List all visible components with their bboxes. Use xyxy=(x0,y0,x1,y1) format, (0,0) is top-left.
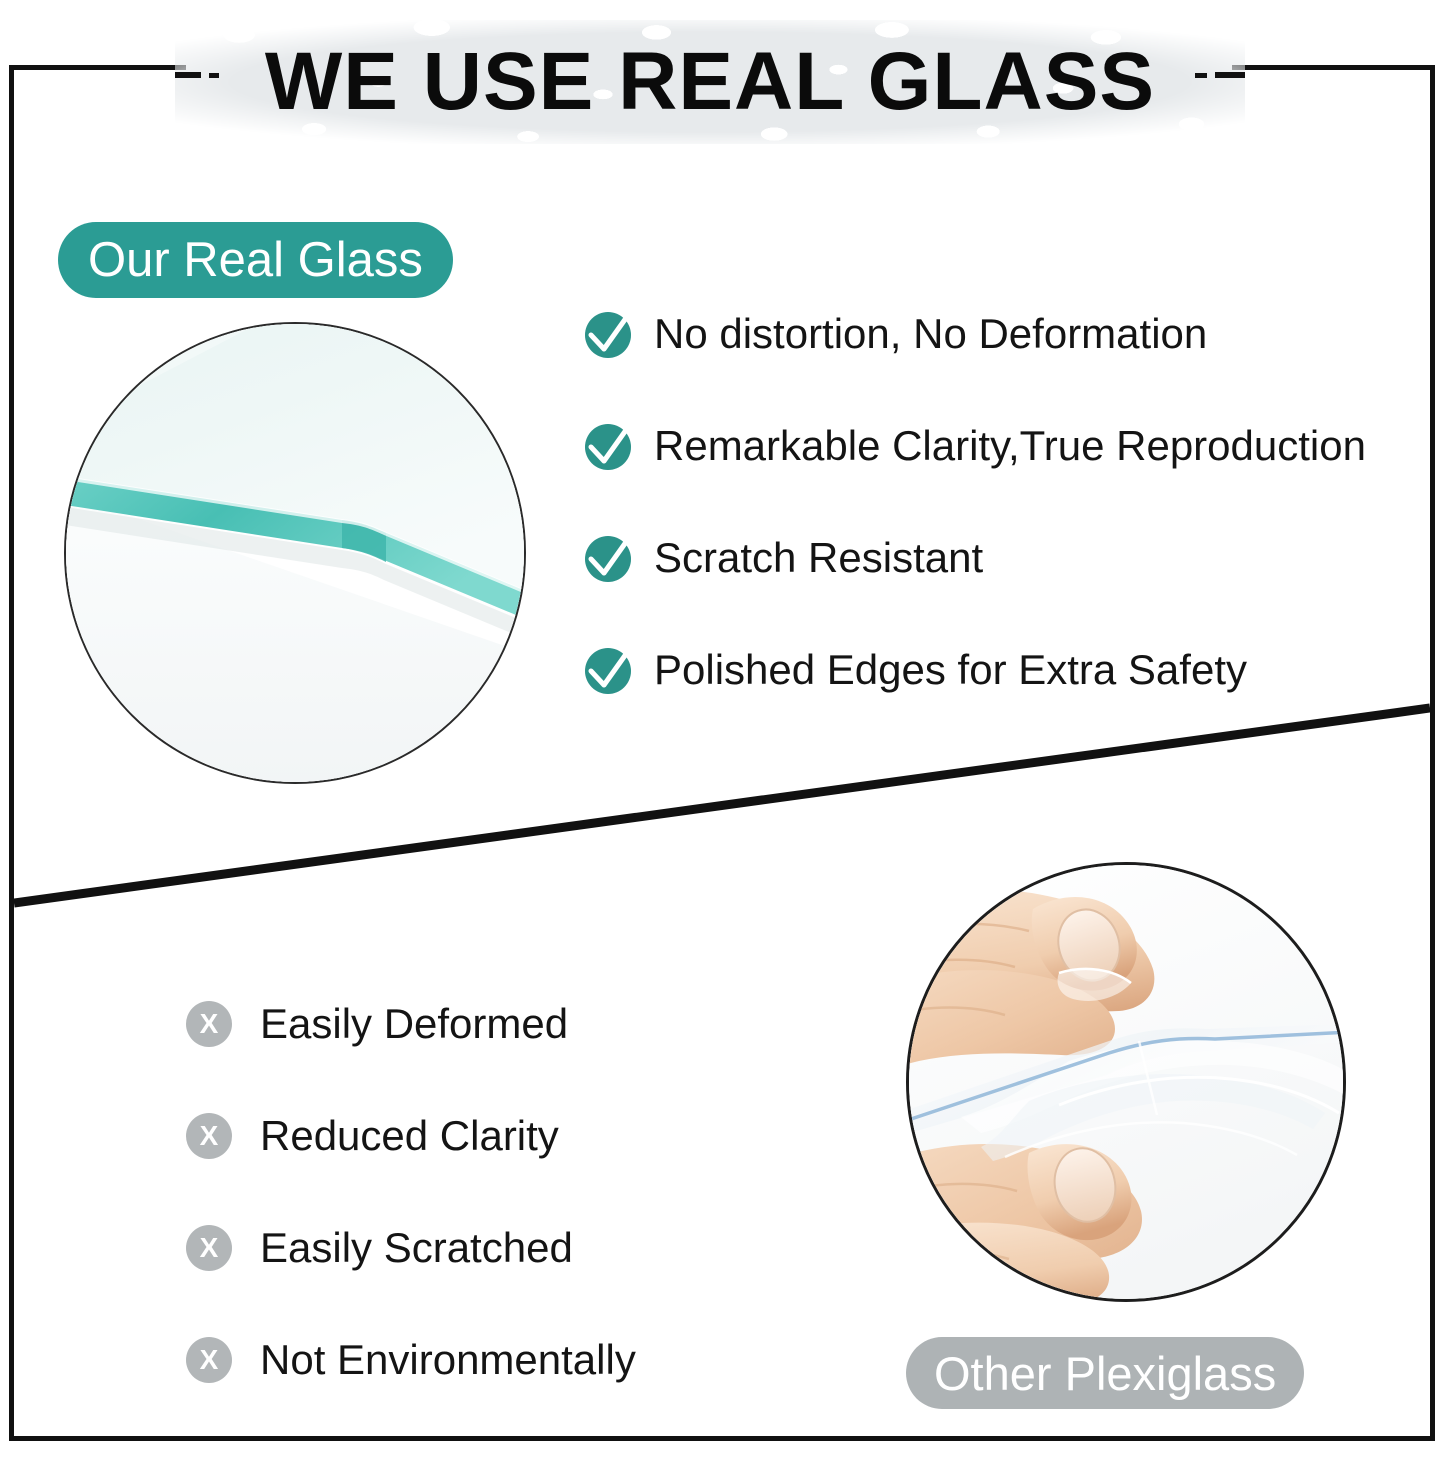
badge-other-plexiglass: Other Plexiglass xyxy=(906,1337,1304,1409)
x-circle-icon: X xyxy=(186,1225,232,1271)
list-item-label: Easily Scratched xyxy=(260,1225,573,1271)
list-item: No distortion, No Deformation xyxy=(584,278,1436,390)
page-title: WE USE REAL GLASS xyxy=(175,28,1245,136)
list-item-label: Reduced Clarity xyxy=(260,1113,559,1159)
list-item: X Easily Scratched xyxy=(186,1192,826,1304)
plexiglass-illustration xyxy=(909,865,1346,1302)
glass-illustration xyxy=(66,324,526,784)
list-item: X Easily Deformed xyxy=(186,968,826,1080)
badge-other-plexiglass-label: Other Plexiglass xyxy=(934,1350,1276,1397)
list-item: X Not Environmentally xyxy=(186,1304,826,1416)
real-glass-photo xyxy=(64,322,526,784)
title-brush-band: WE USE REAL GLASS xyxy=(175,20,1245,144)
x-circle-icon: X xyxy=(186,1113,232,1159)
list-item-label: Polished Edges for Extra Safety xyxy=(654,647,1247,693)
check-circle-icon xyxy=(584,645,634,695)
list-item-label: Scratch Resistant xyxy=(654,535,983,581)
check-circle-icon xyxy=(584,309,634,359)
badge-our-real-glass: Our Real Glass xyxy=(58,222,453,298)
list-item-label: No distortion, No Deformation xyxy=(654,311,1207,357)
list-item-label: Not Environmentally xyxy=(260,1337,636,1383)
list-item: Polished Edges for Extra Safety xyxy=(584,614,1436,726)
pros-list: No distortion, No Deformation Remarkable… xyxy=(584,278,1436,726)
list-item: X Reduced Clarity xyxy=(186,1080,826,1192)
list-item: Scratch Resistant xyxy=(584,502,1436,614)
check-circle-icon xyxy=(584,421,634,471)
x-circle-icon: X xyxy=(186,1001,232,1047)
plexiglass-photo xyxy=(906,862,1346,1302)
x-circle-icon: X xyxy=(186,1337,232,1383)
list-item: Remarkable Clarity,True Reproduction xyxy=(584,390,1436,502)
list-item-label: Remarkable Clarity,True Reproduction xyxy=(654,423,1366,469)
list-item-label: Easily Deformed xyxy=(260,1001,568,1047)
check-circle-icon xyxy=(584,533,634,583)
badge-our-real-glass-label: Our Real Glass xyxy=(88,236,423,285)
cons-list: X Easily Deformed X Reduced Clarity X Ea… xyxy=(186,968,826,1416)
